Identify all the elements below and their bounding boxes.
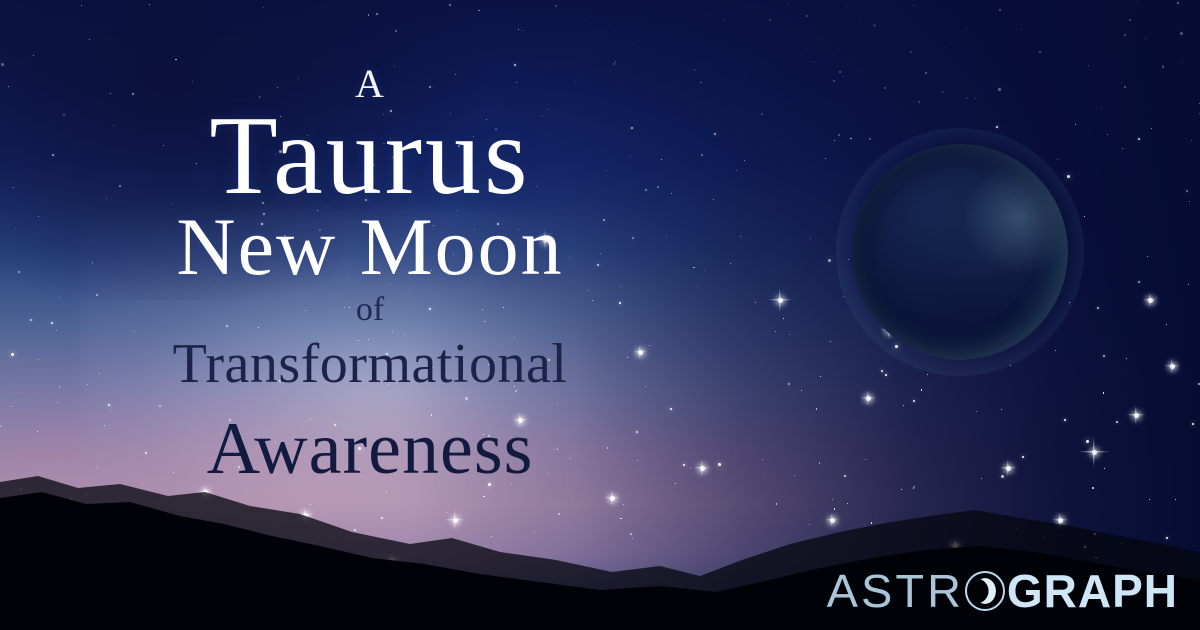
star [1064,419,1066,421]
star [914,101,915,102]
title-line-transformational: Transformational [0,336,740,392]
star [761,113,763,115]
star [944,46,945,47]
title-line-taurus: Taurus [0,100,740,212]
star [966,97,968,99]
star-core [778,298,783,303]
star [873,24,876,27]
star [806,15,808,17]
star [881,370,883,372]
star [1122,148,1123,149]
star [1103,355,1105,357]
star [913,5,914,6]
star [850,138,851,139]
logo-text-astr: ASTR [827,568,964,614]
star [999,9,1001,11]
star [833,80,835,82]
star [805,48,806,49]
star [1191,140,1192,141]
star [1188,284,1189,285]
star [1001,409,1002,410]
star [1088,65,1089,66]
bright-star-icon [1126,405,1146,425]
star [816,408,817,409]
star [1137,1,1138,2]
title-line-awareness: Awareness [0,412,740,486]
star [1126,358,1127,359]
logo-crescent [974,578,996,604]
star [1146,108,1147,109]
star [810,238,811,239]
star [1021,29,1022,30]
star [1121,82,1122,83]
star [1124,86,1126,88]
star [783,318,784,319]
bright-star-icon [860,390,876,406]
star [1138,138,1140,140]
star [869,138,871,140]
star [1097,307,1099,309]
poster-canvas: A Taurus New Moon of Transformational Aw… [0,0,1200,630]
star [843,76,844,77]
star-core [1148,298,1153,303]
star [825,158,826,159]
star [1186,190,1188,192]
star [942,91,944,93]
star [1162,67,1163,68]
star [996,126,998,128]
star [834,140,835,141]
star [1075,124,1076,125]
star-core [1134,413,1139,418]
star [1101,107,1102,108]
star [839,71,841,73]
planet-rim-light [852,144,1068,360]
star [910,51,912,53]
star [1129,19,1131,21]
star [1138,281,1140,283]
star [769,19,771,21]
star [884,87,886,89]
star [828,259,831,262]
star [1084,216,1085,217]
bright-star-icon [1164,358,1180,374]
star [890,84,891,85]
bright-star-icon [767,287,793,313]
star [775,331,776,332]
star [1107,134,1108,135]
star [1183,62,1184,63]
star [839,48,840,49]
star [1103,392,1104,393]
star [788,383,790,385]
star [918,101,920,103]
star [913,400,915,402]
star [820,376,821,377]
star [859,18,860,19]
star [1124,34,1126,36]
star [1151,128,1152,129]
star [1177,2,1179,4]
astrograph-logo[interactable]: ASTR GRAPH [828,568,1178,614]
star [1189,201,1190,202]
star-core [866,396,871,401]
title-line-new-moon: New Moon [0,206,740,288]
star [998,88,1001,91]
star-core [1170,364,1175,369]
bright-star-icon [1143,293,1157,307]
star [976,411,977,412]
star [1180,32,1183,35]
star [813,61,814,62]
star [787,4,788,5]
star [1039,51,1041,53]
star [838,134,840,136]
star [903,405,904,406]
star [975,98,976,99]
star [925,72,927,74]
star [921,389,922,390]
star [1116,421,1118,423]
logo-text-graph: GRAPH [1007,568,1178,614]
star [1166,324,1167,325]
star [801,390,802,391]
star [1145,38,1146,39]
star [885,374,887,376]
star [1147,256,1148,257]
star [966,28,967,29]
star [927,374,928,375]
crescent-moon-icon [965,571,1005,611]
star [846,6,847,7]
star [1192,423,1194,425]
title-block: A Taurus New Moon of Transformational Aw… [0,0,760,520]
title-line-of: of [0,293,740,327]
planet [852,144,1068,360]
star [789,334,790,335]
star [830,341,831,342]
